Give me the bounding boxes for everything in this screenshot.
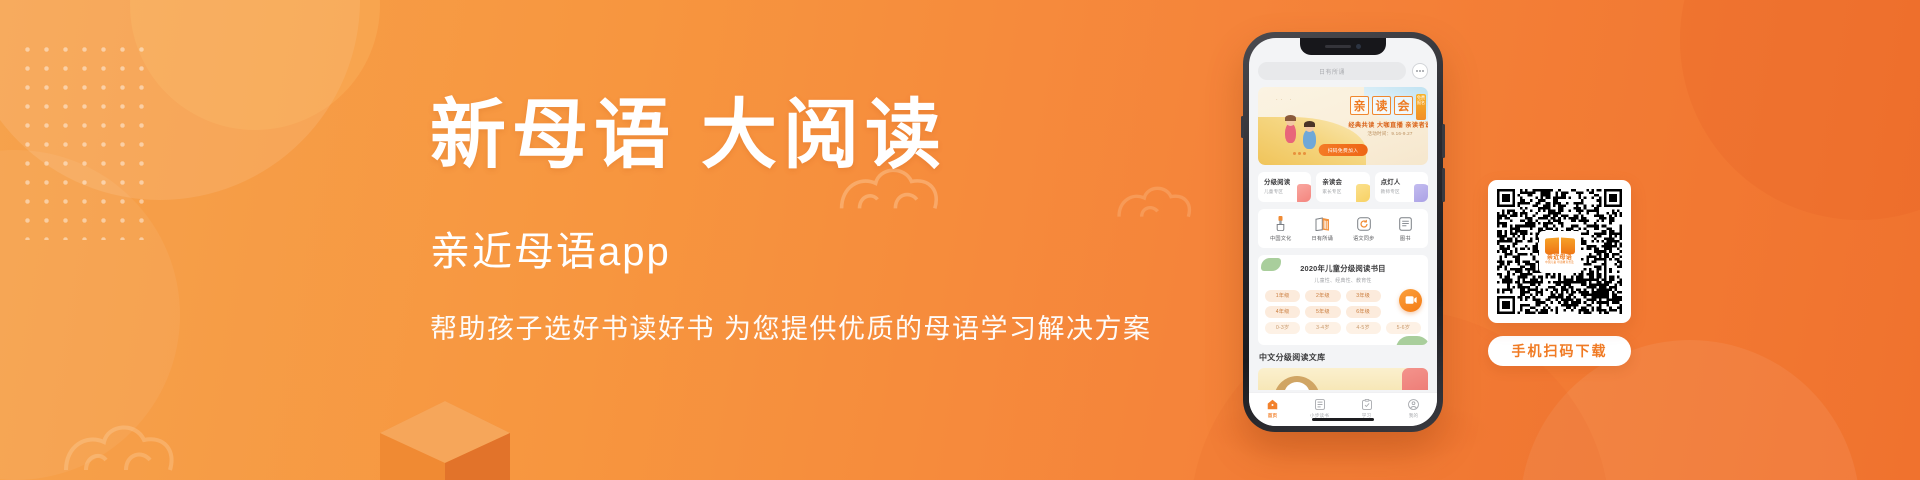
grade-pill[interactable]: 6年级 xyxy=(1346,306,1381,318)
phone-speaker xyxy=(1325,45,1351,48)
grade-row-2: 4年级 5年级 6年级 xyxy=(1265,306,1421,318)
tab-home[interactable]: 首页 xyxy=(1249,398,1296,419)
book-right-page xyxy=(1561,238,1575,255)
user-circle-icon xyxy=(1408,398,1419,410)
dot xyxy=(1422,70,1424,72)
quick-nav-label: 中国文化 xyxy=(1270,235,1292,242)
quick-nav-label: 语文同步 xyxy=(1353,235,1375,242)
refresh-square-icon xyxy=(1357,216,1371,231)
phone-camera xyxy=(1356,44,1361,49)
zone-card-parent[interactable]: 亲读会 家长专区 xyxy=(1316,172,1369,202)
grade-pill[interactable]: 3年级 xyxy=(1346,290,1381,302)
hero-subtitle: 经典共读 大咖直播 亲读者说 xyxy=(1336,120,1428,129)
app-name: 亲近母语app xyxy=(430,219,1250,277)
qr-code-card[interactable]: 亲近母语 中国儿童 母语教育普及 xyxy=(1488,180,1631,323)
decor-circle-4 xyxy=(1680,0,1920,220)
book-left-page xyxy=(1545,238,1559,255)
phone-frame: 日有所诵 ·· · xyxy=(1243,32,1443,432)
hero-title: 亲 读 会 xyxy=(1350,96,1413,115)
booklist-subtitle: 儿童性、经典性、教育性 xyxy=(1265,277,1421,284)
age-pill[interactable]: 5-6岁 xyxy=(1386,322,1421,334)
age-pill[interactable]: 0-3岁 xyxy=(1265,322,1300,334)
book-icon xyxy=(1399,216,1412,231)
decor-dot-grid xyxy=(18,40,148,240)
hero-child-figure xyxy=(1285,123,1296,143)
age-pill[interactable]: 3-4岁 xyxy=(1305,322,1340,334)
grade-pill[interactable]: 1年级 xyxy=(1265,290,1300,302)
library-card[interactable] xyxy=(1258,368,1428,390)
list-icon xyxy=(1315,398,1325,410)
quick-nav-books[interactable]: 图书 xyxy=(1385,216,1427,242)
grade-pill[interactable]: 5年级 xyxy=(1305,306,1340,318)
phone-screen: 日有所诵 ·· · xyxy=(1249,38,1437,426)
qr-center-logo: 亲近母语 中国儿童 母语教育普及 xyxy=(1539,231,1581,273)
qr-logo-sub: 中国儿童 母语教育普及 xyxy=(1545,262,1574,265)
hero-char: 读 xyxy=(1372,96,1391,115)
pager-dot xyxy=(1303,152,1306,155)
hero-char: 亲 xyxy=(1350,96,1369,115)
booklist-card: 2020年儿童分级阅读书目 儿童性、经典性、教育性 1年级 2年级 3年级 4年… xyxy=(1258,255,1428,345)
search-input[interactable]: 日有所诵 xyxy=(1258,62,1406,80)
phone-volume-button xyxy=(1241,116,1244,138)
more-options-icon[interactable] xyxy=(1412,63,1428,79)
pager-dot xyxy=(1293,152,1296,155)
dot xyxy=(1416,70,1418,72)
clipboard-check-icon xyxy=(1362,398,1372,410)
quick-nav-label: 图书 xyxy=(1400,235,1411,242)
zone-thumbnail-icon xyxy=(1414,184,1428,202)
hero-pager[interactable] xyxy=(1293,152,1306,155)
grade-row-1: 1年级 2年级 3年级 xyxy=(1265,290,1421,302)
grade-pill[interactable]: 2年级 xyxy=(1305,290,1340,302)
hero-ribbon: 免费报名 xyxy=(1416,94,1426,120)
brush-icon xyxy=(1275,216,1286,231)
home-indicator xyxy=(1312,418,1374,421)
quick-nav-label: 日有所诵 xyxy=(1311,235,1333,242)
zone-card-row: 分级阅读 儿童专区 亲读会 家长专区 点灯人 教师专区 xyxy=(1258,172,1428,202)
age-pill[interactable]: 4-5岁 xyxy=(1346,322,1381,334)
app-search-row: 日有所诵 xyxy=(1258,62,1428,80)
tagline: 帮助孩子选好书读好书 为您提供优质的母语学习解决方案 xyxy=(430,307,1250,346)
pager-dot xyxy=(1298,152,1301,155)
grade-pill[interactable]: 4年级 xyxy=(1265,306,1300,318)
copy-block: 新母语 大阅读 亲近母语app 帮助孩子选好书读好书 为您提供优质的母语学习解决… xyxy=(430,96,1250,346)
birds-icon: ·· · xyxy=(1276,97,1294,103)
phone-mockup: 日有所诵 ·· · xyxy=(1243,32,1458,452)
page-title: 新母语 大阅读 xyxy=(430,96,1250,177)
app-hero-banner[interactable]: ·· · 亲 读 会 免费报名 经典共读 大咖直播 亲读者说 活动时间：9.16… xyxy=(1258,87,1428,165)
quick-nav-daily-recite[interactable]: 日有所诵 xyxy=(1302,216,1344,242)
zone-thumbnail-icon xyxy=(1297,184,1311,202)
hero-date: 活动时间：9.16-9.27 xyxy=(1336,131,1428,137)
quick-nav-chinese-culture[interactable]: 中国文化 xyxy=(1260,216,1302,242)
tab-label: 首页 xyxy=(1268,413,1278,419)
phone-notch xyxy=(1300,38,1386,55)
tab-label: 我的 xyxy=(1409,413,1419,419)
zone-card-teacher[interactable]: 点灯人 教师专区 xyxy=(1375,172,1428,202)
quick-nav-row: 中国文化 日有所诵 xyxy=(1258,209,1428,248)
promo-banner: 新母语 大阅读 亲近母语app 帮助孩子选好书读好书 为您提供优质的母语学习解决… xyxy=(0,0,1920,480)
hero-char: 会 xyxy=(1394,96,1413,115)
hero-child-figure xyxy=(1303,129,1316,149)
download-button[interactable]: 手机扫码下载 xyxy=(1488,336,1631,366)
dot xyxy=(1419,70,1421,72)
qr-download-block: 亲近母语 中国儿童 母语教育普及 手机扫码下载 xyxy=(1488,180,1633,366)
home-icon xyxy=(1267,398,1278,410)
open-book-icon xyxy=(1315,216,1330,231)
video-play-icon[interactable] xyxy=(1399,289,1422,312)
quick-nav-chinese-sync[interactable]: 语文同步 xyxy=(1343,216,1385,242)
booklist-filters: 1年级 2年级 3年级 4年级 5年级 6年级 xyxy=(1265,290,1421,334)
booklist-title: 2020年儿童分级阅读书目 xyxy=(1265,263,1421,274)
tab-reading[interactable]: 小步读书 xyxy=(1296,398,1343,419)
age-row: 0-3岁 3-4岁 4-5岁 5-6岁 xyxy=(1265,322,1421,334)
library-decor-block xyxy=(1402,368,1428,390)
decor-cube-icon xyxy=(380,401,510,480)
hero-join-button[interactable]: 扫码免费加入 xyxy=(1319,144,1368,156)
book-logo-icon xyxy=(1545,238,1575,254)
tab-study[interactable]: 学习 xyxy=(1343,398,1390,419)
cloud-motif-icon xyxy=(60,416,180,474)
library-section-title: 中文分级阅读文库 xyxy=(1259,352,1428,363)
leaf-decor-icon xyxy=(1396,336,1428,345)
zone-card-graded-reading[interactable]: 分级阅读 儿童专区 xyxy=(1258,172,1311,202)
qr-logo-name: 亲近母语 xyxy=(1547,255,1572,261)
zone-thumbnail-icon xyxy=(1356,184,1370,202)
tab-profile[interactable]: 我的 xyxy=(1390,398,1437,419)
